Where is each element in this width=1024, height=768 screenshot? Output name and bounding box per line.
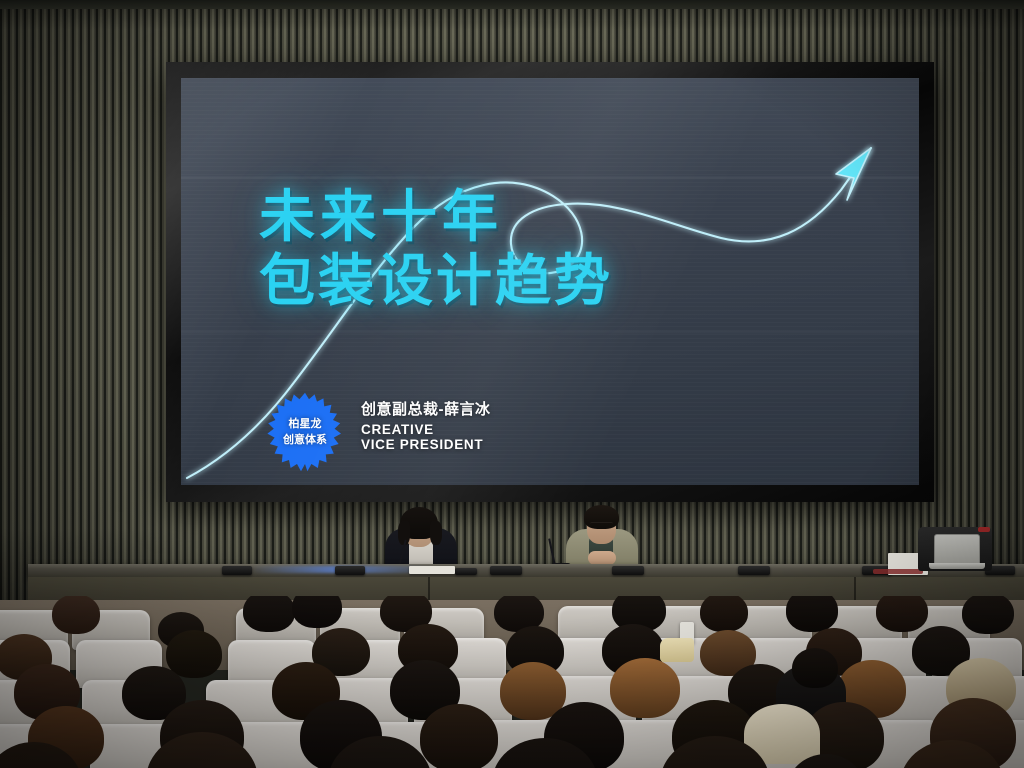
audience-head (700, 596, 748, 632)
speaker-credit: 创意副总裁-薛言冰 CREATIVE VICE PRESIDENT (361, 398, 491, 452)
person-left-hair-side-r (430, 521, 442, 545)
audience-area (0, 596, 1024, 768)
bag-tag (978, 527, 990, 532)
badge-line2: 创意体系 (283, 433, 327, 447)
conference-device[interactable] (490, 566, 522, 575)
screen-bezel: 未来十年 包装设计趋势 柏星龙 创意体系 创意副总裁-薛言冰 CREATIVE … (166, 62, 934, 502)
conference-device[interactable] (335, 566, 365, 575)
red-folder (873, 569, 923, 574)
papers-on-table (409, 566, 455, 574)
audience-head (52, 596, 100, 634)
eyeglasses-icon (590, 522, 613, 526)
speaker-name: 创意副总裁-薛言冰 (361, 398, 491, 419)
audience-head (420, 704, 498, 768)
audience-head (962, 596, 1014, 634)
speaker-role-line1: CREATIVE (361, 422, 491, 437)
slide-title: 未来十年 包装设计趋势 (259, 185, 613, 313)
conference-device[interactable] (738, 566, 770, 575)
conference-hall-scene: 未来十年 包装设计趋势 柏星龙 创意体系 创意副总裁-薛言冰 CREATIVE … (0, 0, 1024, 768)
laptop-screen-front[interactable] (934, 534, 980, 564)
conference-device[interactable] (612, 566, 644, 575)
audience-head (292, 596, 342, 628)
slide-title-line2: 包装设计趋势 (259, 249, 613, 313)
speaker-role-line2: VICE PRESIDENT (361, 437, 491, 452)
audience-head (243, 596, 295, 632)
badge-text: 柏星龙 创意体系 (265, 392, 345, 472)
conference-device[interactable] (222, 566, 252, 575)
audience-head (786, 596, 838, 632)
presentation-screen[interactable]: 未来十年 包装设计趋势 柏星龙 创意体系 创意副总裁-薛言冰 CREATIVE … (181, 78, 919, 485)
ceiling-shadow-band (0, 0, 1024, 9)
brand-badge: 柏星龙 创意体系 (265, 392, 345, 472)
badge-line1: 柏星龙 (289, 417, 322, 431)
slide-title-line1: 未来十年 (259, 185, 503, 248)
audience-arm (660, 638, 694, 662)
audience-head (876, 596, 928, 632)
audience-head (166, 630, 222, 678)
audience-head (792, 648, 838, 688)
audience-head (610, 658, 680, 718)
person-right-hands (588, 551, 616, 565)
conference-device[interactable] (455, 568, 477, 575)
laptop-base-front[interactable] (929, 563, 985, 569)
